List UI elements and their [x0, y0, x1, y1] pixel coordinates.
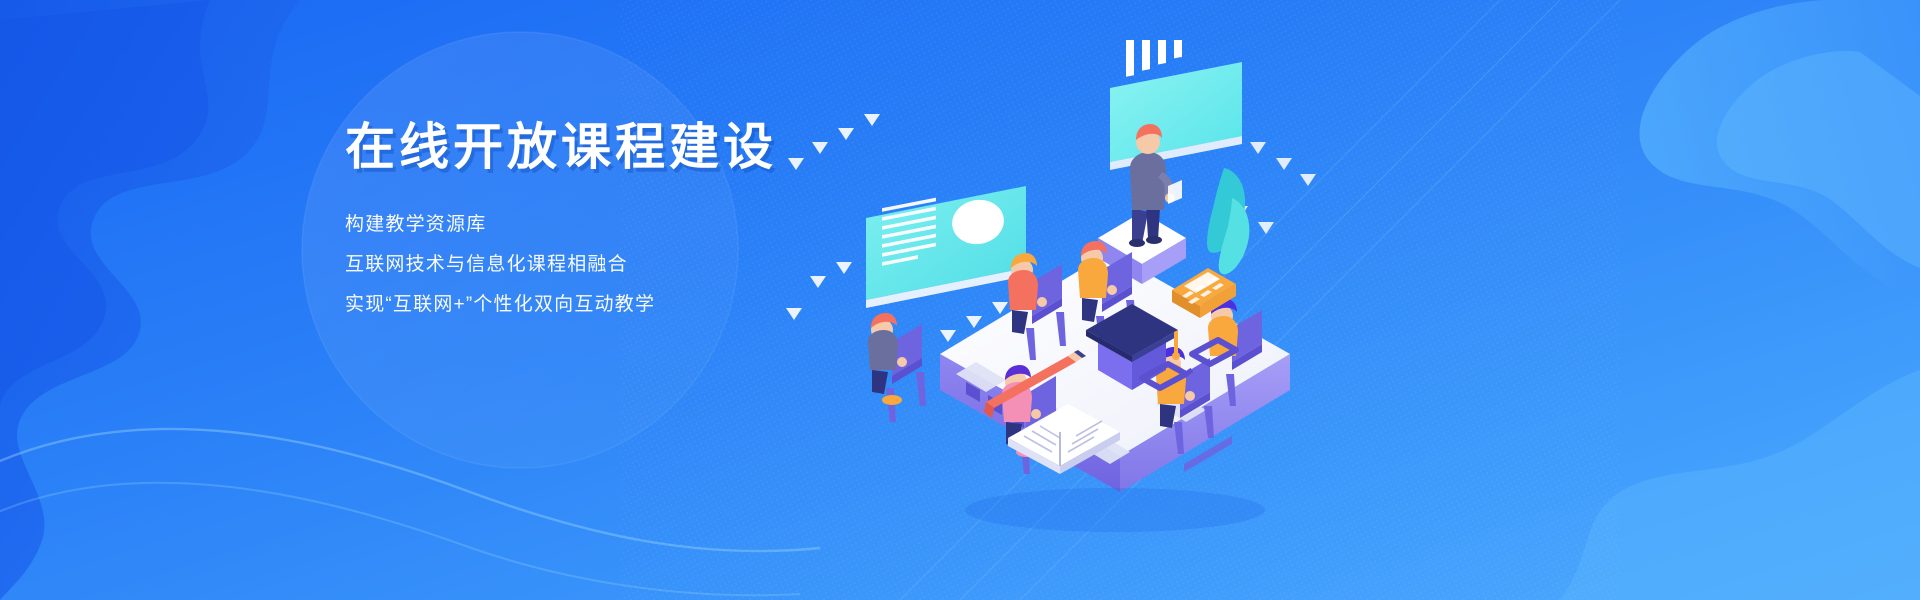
student-figure — [868, 313, 926, 422]
subtitle-line-2: 互联网技术与信息化课程相融合 — [345, 254, 865, 275]
subtitle-line-3: 实现“互联网+”个性化双向互动教学 — [345, 294, 865, 315]
plant-leaves — [1207, 168, 1249, 274]
platform-shadow — [965, 488, 1265, 532]
subtitle-list: 构建教学资源库 互联网技术与信息化课程相融合 实现“互联网+”个性化双向互动教学 — [345, 214, 865, 315]
subtitle-line-1: 构建教学资源库 — [345, 214, 865, 235]
presentation-board-right — [1112, 60, 1232, 182]
hero-copy: 在线开放课程建设 构建教学资源库 互联网技术与信息化课程相融合 实现“互联网+”… — [345, 118, 865, 315]
page-title: 在线开放课程建设 — [345, 118, 865, 176]
hero-banner: 在线开放课程建设 构建教学资源库 互联网技术与信息化课程相融合 实现“互联网+”… — [0, 0, 1920, 600]
presentation-screen-media — [866, 186, 1026, 308]
